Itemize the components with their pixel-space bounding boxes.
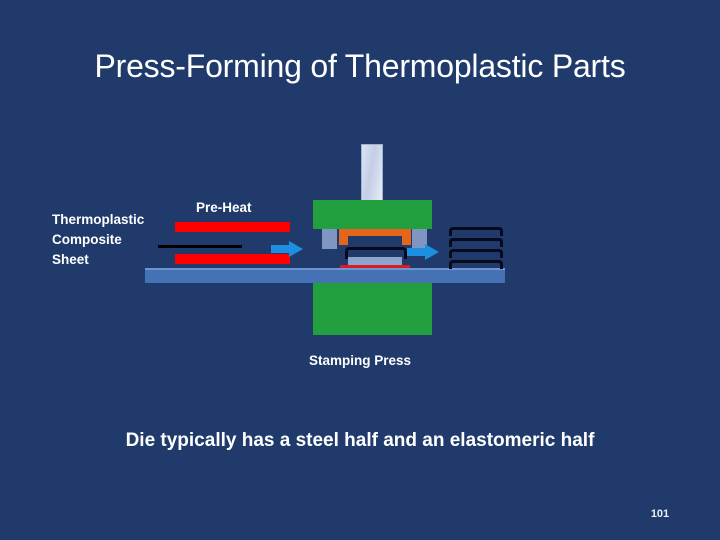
sheet-label-line-1: Thermoplastic: [52, 210, 144, 230]
thermoplastic-composite-sheet-label: Thermoplastic Composite Sheet: [52, 210, 144, 270]
page-number-value: 101: [651, 508, 669, 520]
slide-canvas: Press-Forming of Thermoplastic Parts Pre…: [0, 0, 720, 540]
upper-die-recess: [348, 236, 402, 245]
arrow-shaft: [407, 248, 427, 256]
arrow-shaft: [271, 245, 291, 253]
preheat-heater-top: [175, 222, 290, 232]
page-title: Press-Forming of Thermoplastic Parts: [0, 46, 720, 86]
arrow-head: [289, 241, 303, 257]
die-post-left: [322, 229, 337, 249]
lower-platen: [313, 283, 432, 335]
slide-caption: Die typically has a steel half and an el…: [0, 430, 720, 452]
upper-platen: [313, 200, 432, 229]
preheat-label: Pre-Heat: [196, 198, 252, 218]
sheet-label-line-2: Composite: [52, 230, 144, 250]
page-number: 101: [0, 508, 720, 520]
finished-parts-stack: [449, 227, 503, 271]
sheet-label-line-3: Sheet: [52, 250, 144, 270]
stacked-part: [449, 227, 503, 236]
stacked-part: [449, 249, 503, 258]
thermoplastic-sheet-line: [158, 245, 242, 248]
hydraulic-ram: [361, 144, 383, 202]
flow-arrow-into-press-icon: [271, 241, 303, 257]
stamping-press-label: Stamping Press: [0, 351, 720, 371]
flow-arrow-out-of-press-icon: [407, 244, 439, 260]
stacked-part: [449, 260, 503, 269]
arrow-head: [425, 244, 439, 260]
stacked-part: [449, 238, 503, 247]
